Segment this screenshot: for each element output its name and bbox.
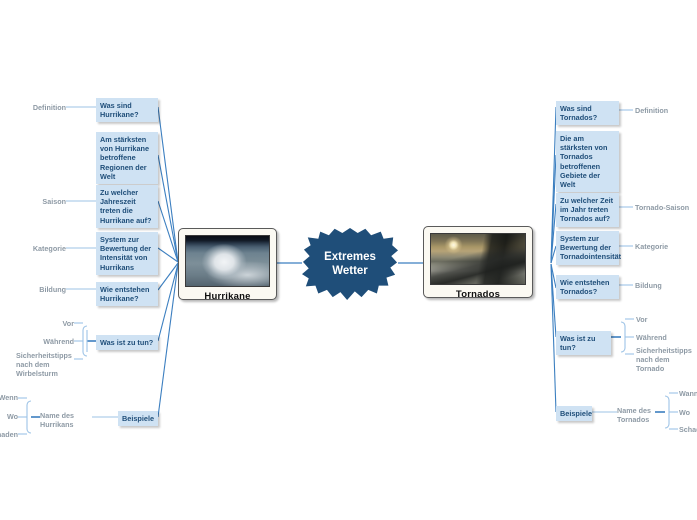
label-hurrikane-vor: Vor [24, 319, 74, 328]
label-hurrikane-wenn: Wenn [0, 393, 18, 402]
topic-was-sind-tornados[interactable]: Was sindTornados? [556, 101, 619, 125]
topic-wie-entstehen-tornados[interactable]: Wie entstehenTornados? [556, 275, 619, 299]
label-tornado-definition: Definition [635, 106, 697, 115]
tornado-image-card[interactable]: Tornados [423, 226, 533, 298]
label-hurrikane-bildung: Bildung [16, 285, 66, 294]
label-tornado-kategorie: Kategorie [635, 242, 697, 251]
topic-was-ist-zu-tun-hurrikane[interactable]: Was ist zu tun? [96, 335, 158, 350]
topic-beispiele-hurrikane[interactable]: Beispiele [118, 411, 158, 426]
label-hurrikane-waehrend: Während [24, 337, 74, 346]
label-tornado-schaden: Schad [679, 425, 697, 434]
label-tornado-waehrend: Während [636, 333, 692, 342]
hurricane-satellite-icon [185, 235, 270, 287]
label-hurrikane-sicherheitstipps: Sicherheitstippsnach demWirbelsturm [16, 351, 74, 378]
label-tornado-sicherheitstipps: Sicherheitstippsnach demTornado [636, 346, 697, 373]
label-hurrikane-definition: Definition [16, 103, 66, 112]
label-hurrikane-wo: Wo [0, 412, 18, 421]
topic-betroffene-gebiete-tornados[interactable]: Die amstärksten vonTornadosbetroffenenGe… [556, 131, 619, 192]
central-topic-line1: Extremes [318, 250, 382, 264]
topic-wie-entstehen-hurrikane[interactable]: Wie entstehenHurrikane? [96, 282, 158, 306]
label-tornado-bildung: Bildung [635, 281, 697, 290]
topic-zeit-im-jahr-tornados[interactable]: Zu welcher Zeitim Jahr tretenTornados au… [556, 193, 619, 227]
central-topic[interactable]: Extremes Wetter [302, 228, 398, 300]
topic-bewertung-tornadointensitaet[interactable]: System zurBewertung derTornadointensität [556, 231, 619, 265]
label-name-des-tornados: Name desTornados [617, 406, 665, 424]
topic-betroffene-regionen-hurrikane[interactable]: Am stärkstenvon HurrikanebetroffeneRegio… [96, 132, 158, 184]
central-topic-line2: Wetter [318, 264, 382, 278]
label-tornado-vor: Vor [636, 315, 692, 324]
hurricane-image-card[interactable]: Hurrikane [178, 228, 277, 300]
tornado-card-caption: Tornados [430, 285, 526, 300]
topic-bewertung-intensitaet-hurrikane[interactable]: System zurBewertung derIntensität vonHur… [96, 232, 158, 275]
topic-jahreszeit-hurrikane[interactable]: Zu welcherJahreszeittreten dieHurrikane … [96, 185, 158, 228]
label-name-des-hurrikans: Name desHurrikans [40, 411, 92, 429]
tornado-storm-icon [430, 233, 526, 285]
topic-was-ist-zu-tun-tornados[interactable]: Was ist zu tun? [556, 331, 611, 355]
label-hurrikane-kategorie: Kategorie [16, 244, 66, 253]
topic-beispiele-tornados[interactable]: Beispiele [556, 406, 592, 421]
label-hurrikane-schaden: chaden [0, 430, 18, 439]
hurricane-card-caption: Hurrikane [185, 287, 270, 302]
label-hurrikane-saison: Saison [16, 197, 66, 206]
label-tornado-wo: Wo [679, 408, 697, 417]
label-tornado-wann: Wann [679, 389, 697, 398]
label-tornado-saison: Tornado-Saison [635, 203, 697, 212]
mindmap-canvas: Extremes Wetter Hurrikane Tornados Was s… [0, 0, 697, 520]
topic-was-sind-hurrikane[interactable]: Was sindHurrikane? [96, 98, 158, 122]
